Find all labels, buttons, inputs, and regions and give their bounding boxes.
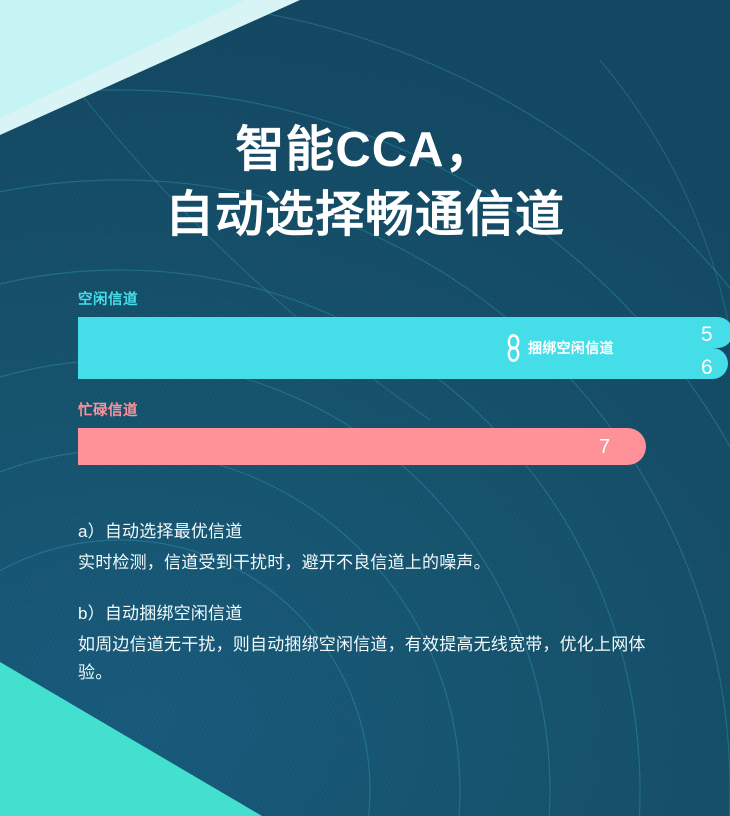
- feature-a-text: 实时检测，信道受到干扰时，避开不良信道上的噪声。: [78, 549, 678, 577]
- feature-b-heading: b）自动捆绑空闲信道: [78, 601, 678, 627]
- busy-bar: [78, 428, 646, 465]
- bundle-annotation-text: 捆绑空闲信道: [528, 338, 614, 358]
- feature-a-heading: a）自动选择最优信道: [78, 519, 678, 545]
- feature-b-text: 如周边信道无干扰，则自动捆绑空闲信道，有效提高无线宽带，优化上网体验。: [78, 631, 678, 686]
- page-title: 智能CCA， 自动选择畅通信道: [0, 118, 730, 247]
- body-copy: a）自动选择最优信道 实时检测，信道受到干扰时，避开不良信道上的噪声。 b）自动…: [78, 519, 678, 686]
- poster-content: 智能CCA， 自动选择畅通信道 空闲信道 捆绑空闲信道 5 6 忙碌信道: [0, 0, 730, 816]
- busy-channel-label: 忙碌信道: [78, 399, 658, 420]
- feature-item-b: b）自动捆绑空闲信道 如周边信道无干扰，则自动捆绑空闲信道，有效提高无线宽带，优…: [78, 601, 678, 686]
- busy-channel-bar-group: 7: [78, 428, 658, 465]
- idle-segment-6-value: 6: [701, 357, 713, 378]
- busy-bar-value: 7: [599, 437, 610, 457]
- chain-link-icon: [506, 333, 521, 363]
- channel-bar-chart: 空闲信道 捆绑空闲信道 5 6 忙碌信道 7: [78, 288, 658, 465]
- idle-segment-5-value: 5: [701, 324, 713, 345]
- feature-item-a: a）自动选择最优信道 实时检测，信道受到干扰时，避开不良信道上的噪声。: [78, 519, 678, 577]
- poster-canvas: 智能CCA， 自动选择畅通信道 空闲信道 捆绑空闲信道 5 6 忙碌信道: [0, 0, 730, 816]
- idle-channel-bar-group: 捆绑空闲信道 5 6: [78, 317, 658, 379]
- idle-channel-label: 空闲信道: [78, 288, 658, 309]
- bundle-annotation: 捆绑空闲信道: [506, 317, 614, 379]
